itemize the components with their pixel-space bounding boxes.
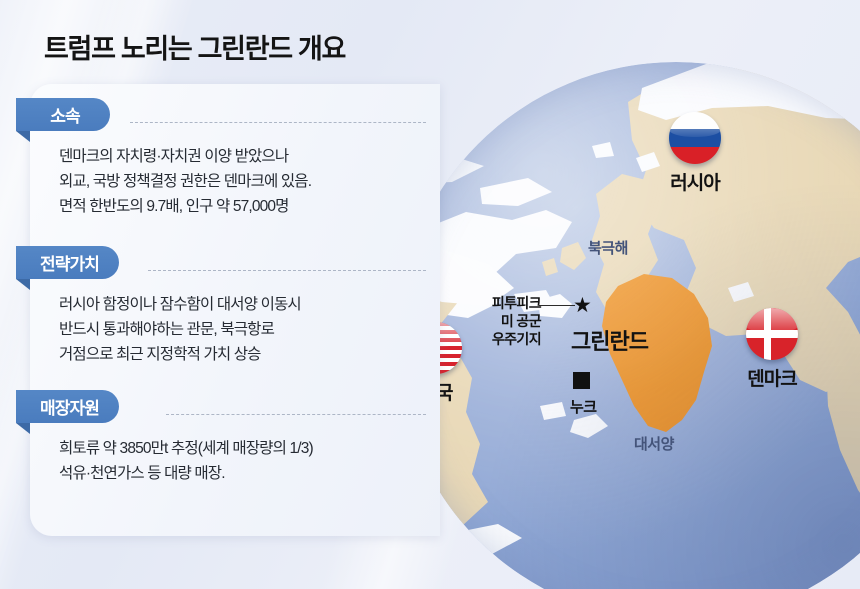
infographic-root: 북극해 대서양 그린란드 누크 ★ 피투피크 미 공군 우주기지 러시아 미국 (0, 0, 860, 589)
flag-label-denmark: 덴마크 (736, 364, 808, 391)
section-body-resources: 희토류 약 3850만t 추정(세계 매장량의 1/3) 석유·천연가스 등 대… (59, 436, 440, 486)
badge-row: 매장자원 (30, 390, 440, 428)
map-label-arctic-ocean: 북극해 (588, 237, 628, 258)
info-section-strategic-value: 전략가치 러시아 함정이나 잠수함이 대서양 이동시 반드시 통과해야하는 관문… (30, 246, 440, 367)
body-line: 덴마크의 자치령·자치권 이양 받았으나 (59, 144, 440, 169)
info-card: 소속 덴마크의 자치령·자치권 이양 받았으나 외교, 국방 정책결정 권한은 … (30, 84, 440, 536)
section-badge-affiliation: 소속 (16, 98, 110, 131)
body-line: 희토류 약 3850만t 추정(세계 매장량의 1/3) (59, 436, 440, 461)
flag-label-russia: 러시아 (659, 168, 731, 195)
pituffik-leader-line (539, 305, 575, 306)
section-divider (148, 270, 426, 271)
section-badge-resources: 매장자원 (16, 390, 119, 423)
body-line: 러시아 함정이나 잠수함이 대서양 이동시 (59, 292, 440, 317)
body-line: 외교, 국방 정책결정 권한은 덴마크에 있음. (59, 169, 440, 194)
page-title: 트럼프 노리는 그린란드 개요 (44, 27, 345, 66)
badge-row: 소속 (30, 98, 440, 136)
map-label-greenland: 그린란드 (571, 324, 648, 356)
body-line: 석유·천연가스 등 대량 매장. (59, 461, 440, 486)
body-line: 면적 한반도의 9.7배, 인구 약 57,000명 (59, 194, 440, 219)
badge-row: 전략가치 (30, 246, 440, 284)
info-section-resources: 매장자원 희토류 약 3850만t 추정(세계 매장량의 1/3) 석유·천연가… (30, 390, 440, 486)
section-divider (130, 122, 426, 123)
body-line: 반드시 통과해야하는 관문, 북극항로 (59, 317, 440, 342)
section-body-strategic-value: 러시아 함정이나 잠수함이 대서양 이동시 반드시 통과해야하는 관문, 북극항… (59, 292, 440, 367)
info-section-affiliation: 소속 덴마크의 자치령·자치권 이양 받았으나 외교, 국방 정책결정 권한은 … (30, 98, 440, 219)
body-line: 거점으로 최근 지정학적 가치 상승 (59, 342, 440, 367)
denmark-flag-icon (746, 308, 798, 360)
badge-tail (16, 423, 30, 434)
pituffik-star-icon: ★ (573, 295, 592, 316)
badge-tail (16, 131, 30, 142)
landmass-island (396, 560, 430, 580)
section-badge-strategic-value: 전략가치 (16, 246, 119, 279)
flag-badge-denmark: 덴마크 (736, 308, 808, 391)
map-label-nuuk: 누크 (570, 396, 597, 417)
flag-badge-russia: 러시아 (659, 112, 731, 195)
pituffik-line: 피투피크 (455, 295, 541, 313)
landmass-island (430, 548, 472, 568)
section-divider (166, 414, 426, 415)
nuuk-marker-icon (573, 372, 590, 389)
russia-flag-icon (669, 112, 721, 164)
section-body-affiliation: 덴마크의 자치령·자치권 이양 받았으나 외교, 국방 정책결정 권한은 덴마크… (59, 144, 440, 219)
badge-tail (16, 279, 30, 290)
map-label-atlantic-ocean: 대서양 (634, 433, 674, 454)
